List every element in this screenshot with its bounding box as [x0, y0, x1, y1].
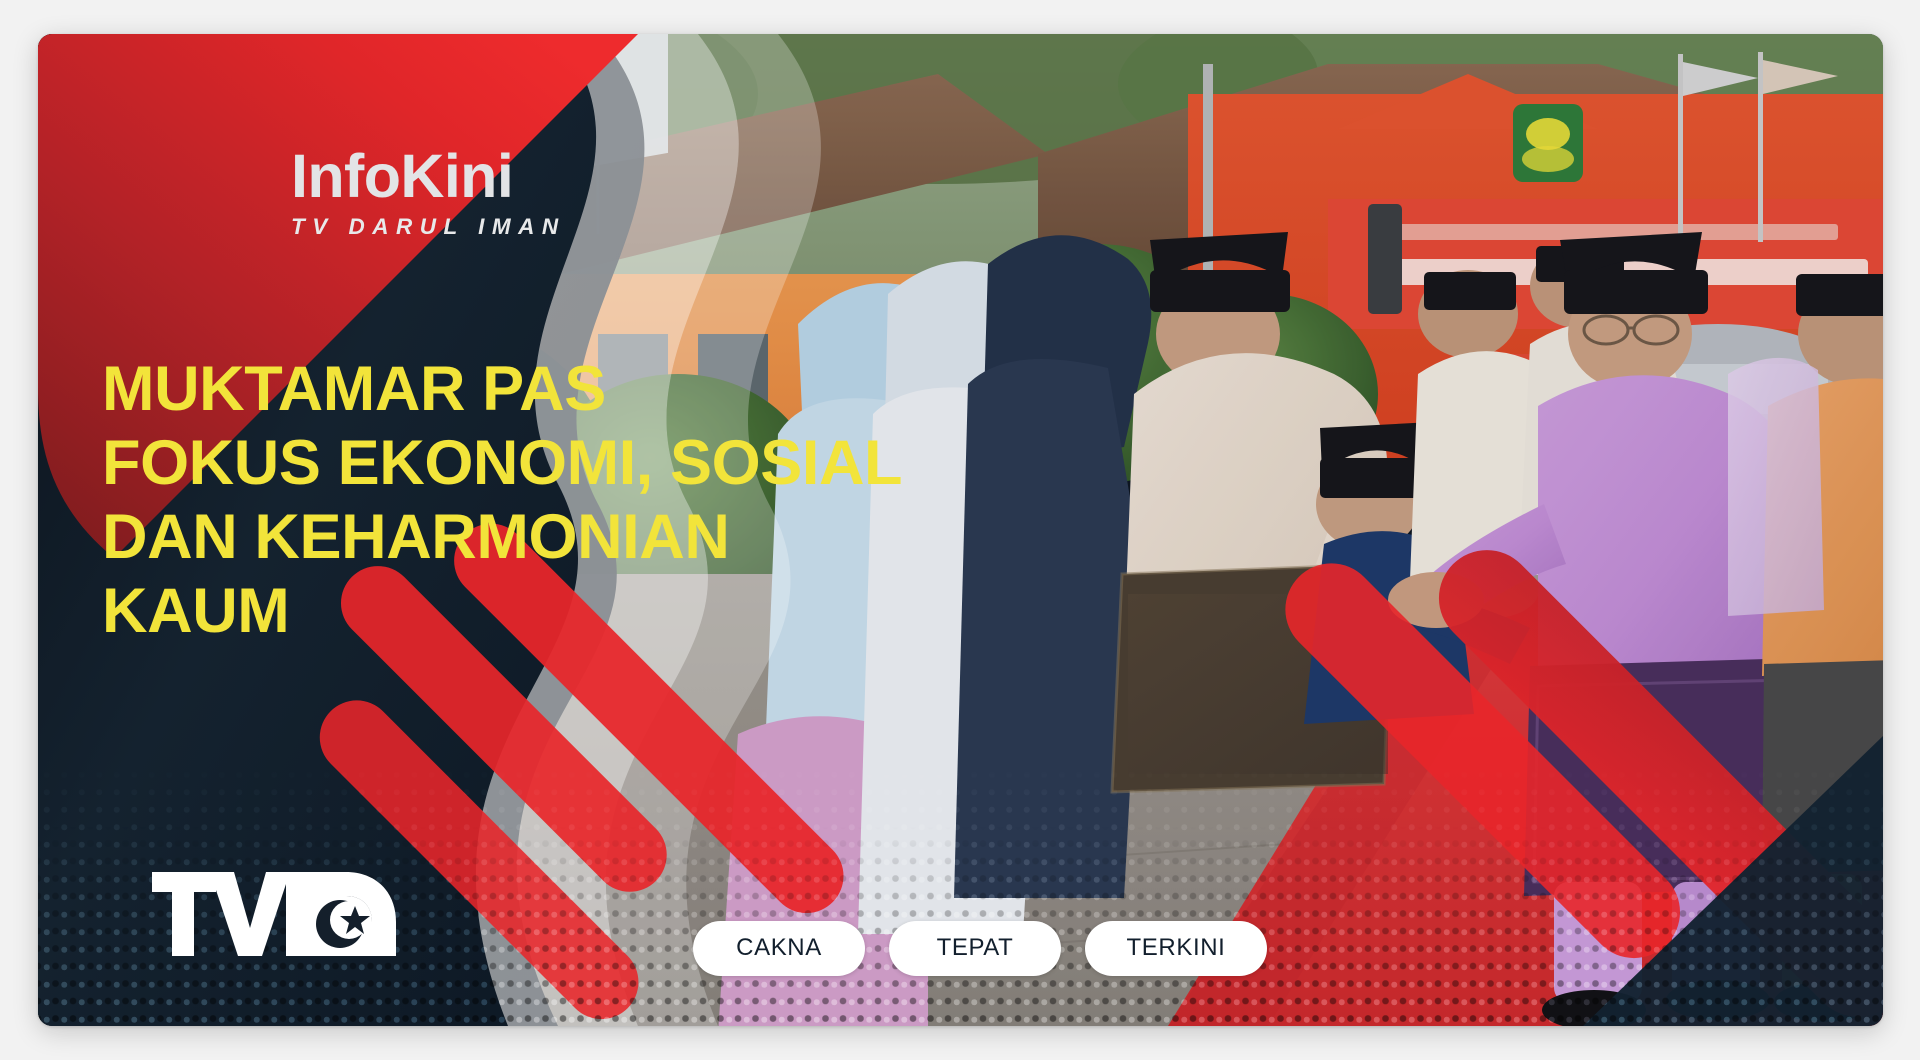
tagline-pill-terkini[interactable]: TERKINI	[1085, 921, 1267, 976]
tagline-pill-tepat[interactable]: TEPAT	[889, 921, 1061, 976]
tagline-pill-cakna[interactable]: CAKNA	[693, 921, 865, 976]
tvdi-station-logo	[150, 866, 405, 962]
headline-line-2: FOKUS EKONOMI, SOSIAL	[102, 426, 952, 500]
news-graphic-card: InfoKini TV DARUL IMAN MUKTAMAR PAS FOKU…	[38, 34, 1883, 1026]
headline: MUKTAMAR PAS FOKUS EKONOMI, SOSIAL DAN K…	[102, 352, 952, 648]
logo-subtitle: TV DARUL IMAN	[291, 214, 566, 240]
screenshot-root: InfoKini TV DARUL IMAN MUKTAMAR PAS FOKU…	[0, 0, 1920, 1060]
logo-title: InfoKini	[291, 146, 566, 207]
infokini-logo: InfoKini TV DARUL IMAN	[291, 146, 566, 240]
tagline-pills: CAKNA TEPAT TERKINI	[693, 921, 1267, 976]
headline-line-4: KAUM	[102, 574, 952, 648]
headline-line-1: MUKTAMAR PAS	[102, 352, 952, 426]
headline-line-3: DAN KEHARMONIAN	[102, 500, 952, 574]
